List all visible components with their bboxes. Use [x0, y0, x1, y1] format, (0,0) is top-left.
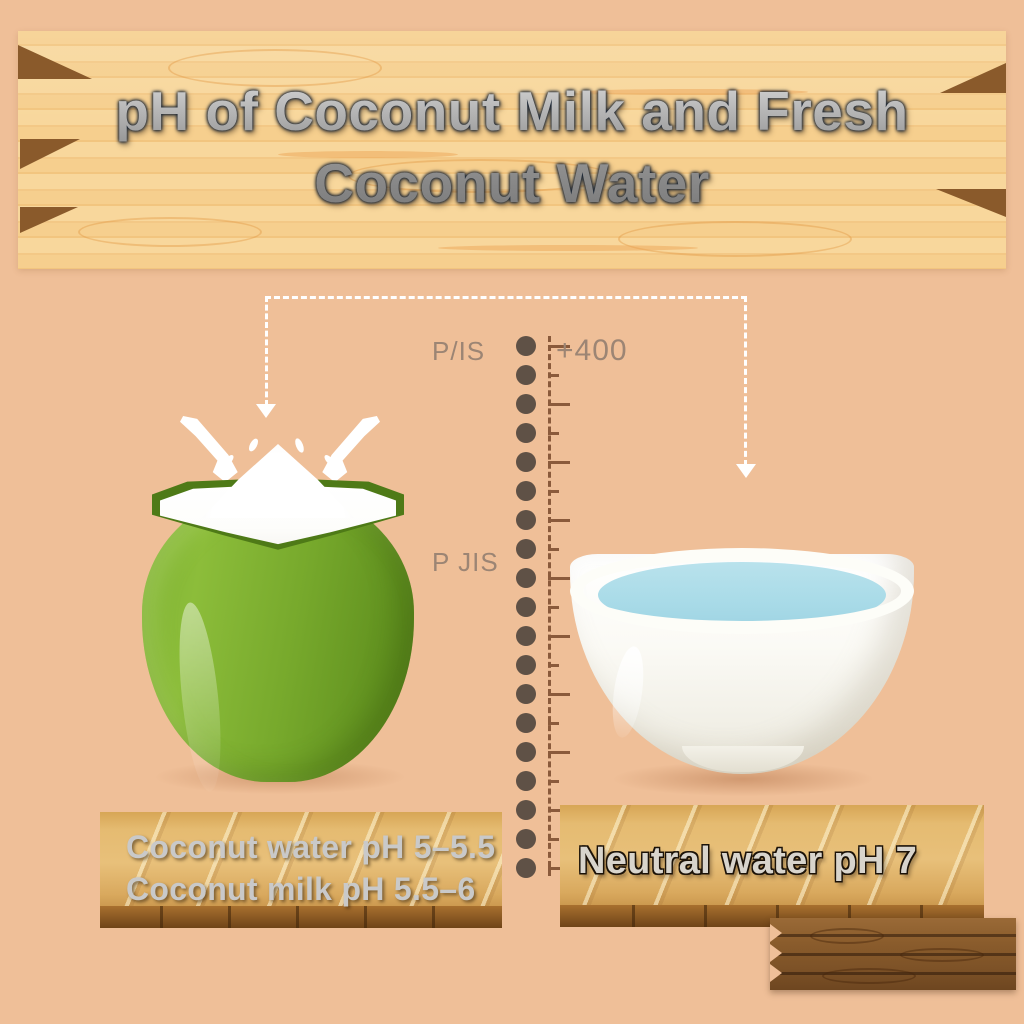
scale-dot: [516, 452, 536, 472]
bowl-highlight: [608, 644, 649, 739]
banner-notch-right-top: [940, 63, 1006, 93]
coconut-highlight: [172, 601, 228, 794]
title-banner: pH of Coconut Milk and Fresh Coconut Wat…: [18, 31, 1006, 269]
scale-dot: [516, 597, 536, 617]
connector-right-bar: [744, 296, 747, 466]
splash-droplet: [247, 437, 260, 453]
scale-dot: [516, 568, 536, 588]
scale-dot: [516, 829, 536, 849]
bowl-rim: [570, 548, 914, 634]
connector-top-bar: [265, 296, 747, 299]
wooden-sign: [770, 918, 1016, 990]
scale-dot: [516, 481, 536, 501]
scale-tick: [548, 374, 559, 377]
scale-tick: [548, 432, 559, 435]
connector-left-bar: [265, 296, 268, 406]
scale-tick: [548, 519, 570, 522]
scale-value-top: +400: [556, 334, 628, 368]
scale-tick: [548, 606, 559, 609]
scale-tick: [548, 722, 559, 725]
scale-dot: [516, 626, 536, 646]
banner-notch-right-bottom: [936, 189, 1006, 217]
scale-dot: [516, 713, 536, 733]
scale-dot: [516, 771, 536, 791]
left-label-text: Coconut water pH 5–5.5 Coconut milk pH 5…: [126, 826, 495, 910]
banner-notch-left-top: [18, 45, 92, 79]
wood-knot: [810, 928, 884, 944]
scale-tick: [548, 461, 570, 464]
scale-dot: [516, 423, 536, 443]
scale-dot: [516, 336, 536, 356]
scale-dot: [516, 684, 536, 704]
scale-label-middle: P JIS: [432, 547, 499, 578]
scale-tick: [548, 548, 559, 551]
wooden-sign-board: [770, 918, 1016, 990]
scale-tick: [548, 838, 559, 841]
banner-notch-left-bottom: [20, 207, 78, 233]
wood-grain-ring: [168, 49, 382, 87]
scale-tick: [548, 780, 559, 783]
scale-dot: [516, 510, 536, 530]
bowl-illustration: [562, 540, 922, 808]
scale-dot: [516, 365, 536, 385]
down-arrow-icon: [736, 464, 756, 478]
scale-dot: [516, 858, 536, 878]
scale-dot: [516, 800, 536, 820]
wood-grain-streak: [438, 245, 698, 251]
scale-dot: [516, 655, 536, 675]
wood-grain-ring: [78, 217, 262, 247]
scale-tick: [548, 664, 559, 667]
right-label-text: Neutral water pH 7: [578, 840, 917, 882]
coconut-illustration: [130, 408, 430, 808]
scale-dot: [516, 742, 536, 762]
scale-tick: [548, 403, 570, 406]
scale-tick: [548, 490, 559, 493]
scale-dot: [516, 394, 536, 414]
scale-label-top: P/IS: [432, 336, 485, 367]
wood-grain-streak: [278, 151, 458, 158]
page-title: pH of Coconut Milk and Fresh Coconut Wat…: [18, 75, 1006, 219]
wood-knot: [900, 948, 984, 962]
wood-grain-streak: [578, 89, 808, 95]
scale-dot: [516, 539, 536, 559]
banner-notch-left-middle: [20, 139, 80, 169]
wood-grain-ring: [348, 159, 612, 193]
splash-droplet: [293, 437, 305, 454]
infographic-canvas: pH of Coconut Milk and Fresh Coconut Wat…: [0, 0, 1024, 1024]
wood-grain-ring: [618, 221, 852, 257]
wood-knot: [822, 968, 916, 984]
